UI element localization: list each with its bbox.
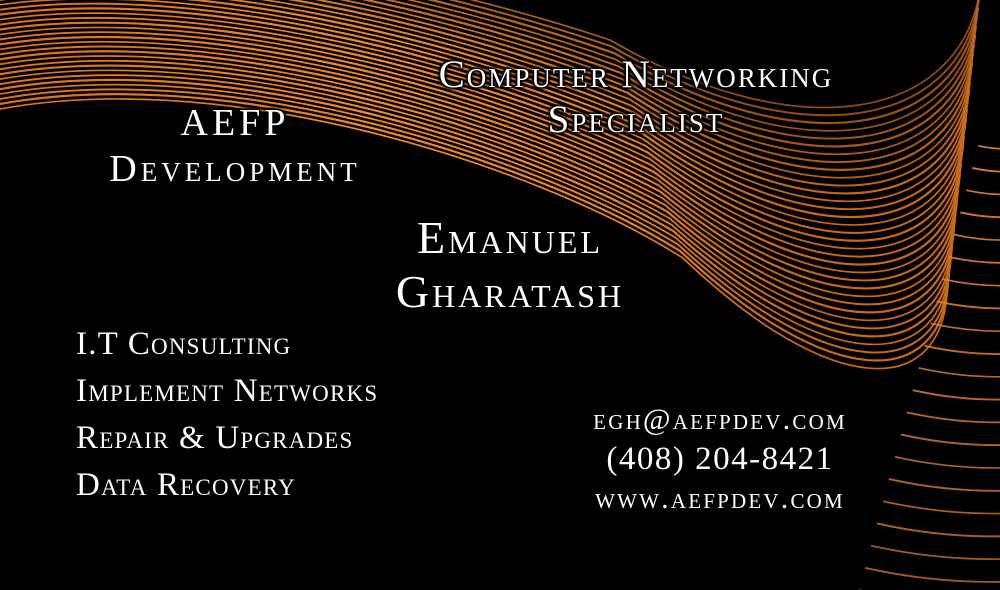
contact-block: egh@aefpdev.com (408) 204-8421 www.aefpd… — [490, 405, 950, 514]
service-item: Implement Networks — [76, 375, 378, 408]
services-list: I.T Consulting Implement Networks Repair… — [76, 328, 378, 502]
person-first-name: Emanuel — [417, 212, 603, 263]
headline-line-1: Computer Networking — [439, 53, 833, 96]
contact-website: www.aefpdev.com — [490, 484, 950, 514]
contact-phone: (408) 204-8421 — [490, 443, 950, 476]
person-name: Emanuel Gharatash — [180, 215, 840, 315]
company-name-line-2: Development — [0, 150, 470, 188]
contact-email: egh@aefpdev.com — [490, 405, 950, 435]
service-item: Data Recovery — [76, 469, 378, 502]
business-card: Computer Networking Specialist AEFP Deve… — [0, 0, 1000, 590]
company-name-line-1: AEFP — [181, 102, 290, 144]
service-item: I.T Consulting — [76, 328, 378, 361]
person-last-name: Gharatash — [180, 269, 840, 315]
service-item: Repair & Upgrades — [76, 422, 378, 455]
company-name: AEFP Development — [0, 104, 470, 188]
